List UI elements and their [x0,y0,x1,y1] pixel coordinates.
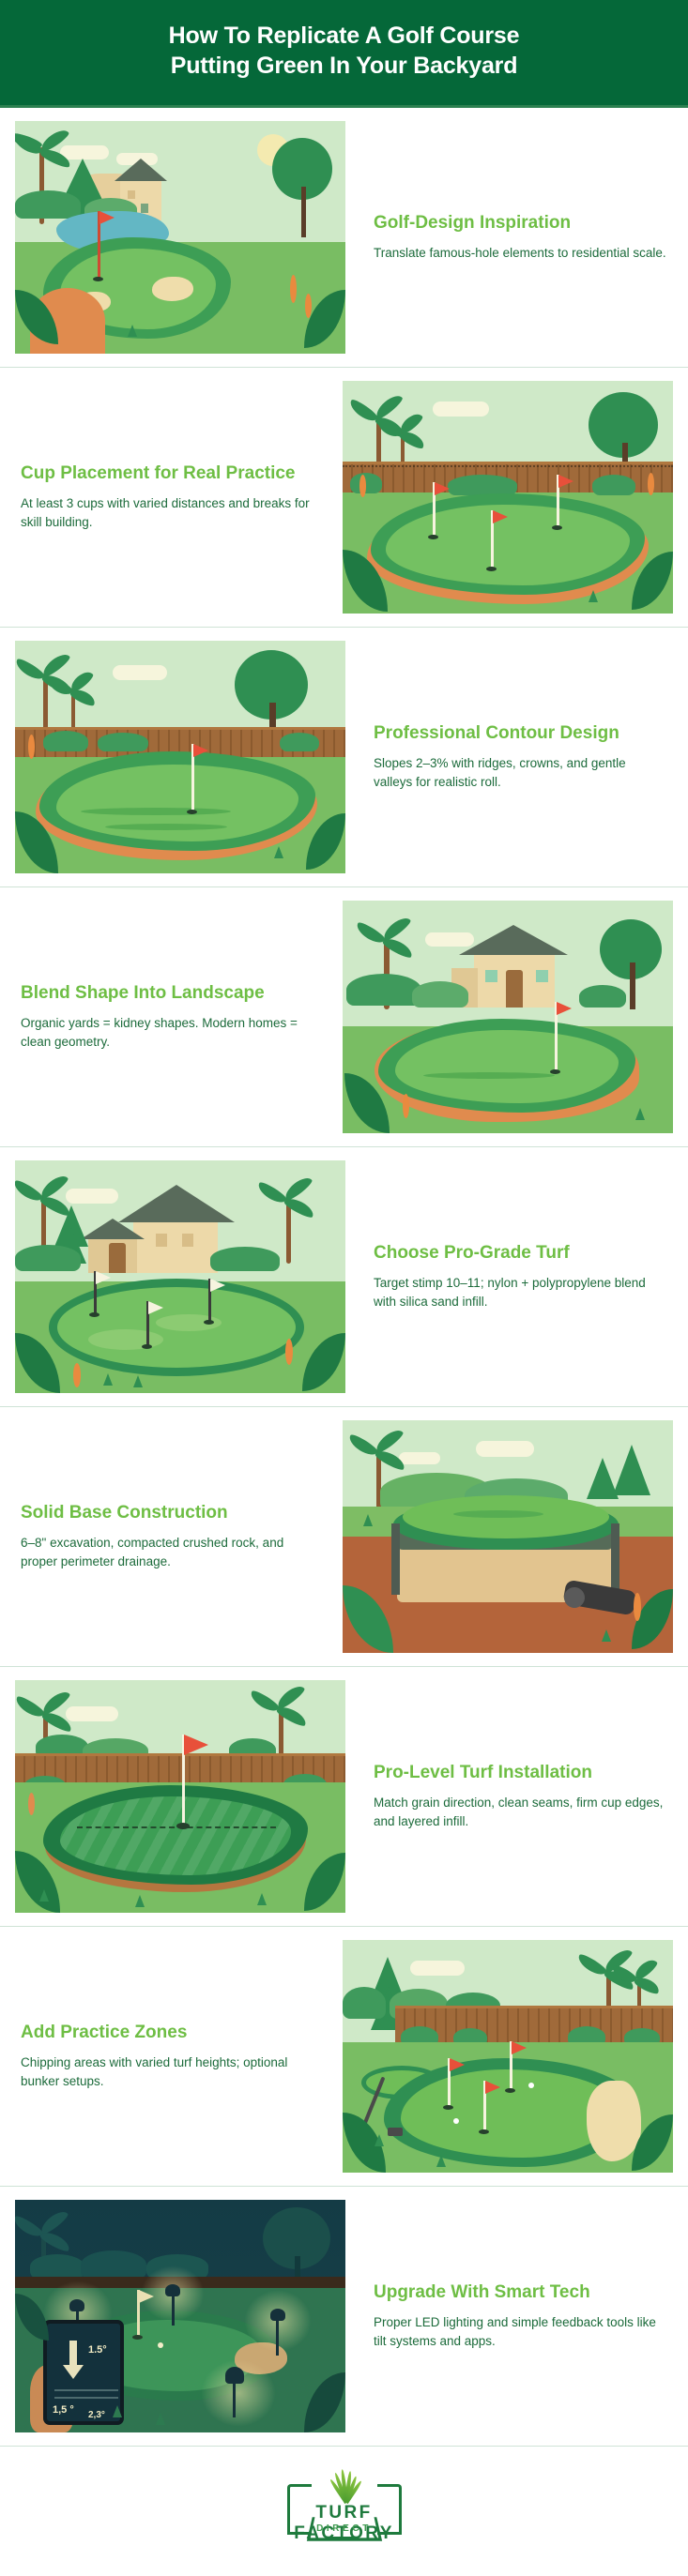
grass-tuft [103,1373,113,1386]
door [506,970,523,1008]
reed [73,1363,81,1387]
flag [485,2081,500,2094]
page-title-line1: How To Replicate A Golf Course [169,23,520,49]
flag [512,2041,527,2054]
house-roof [118,1185,235,1222]
page-header: How To Replicate A Golf Course Putting G… [0,0,688,108]
illustration-wrap [15,1680,345,1913]
flag [493,510,508,523]
section-blend-shape-into-landscape: Blend Shape Into Landscape Organic yards… [0,887,688,1147]
cup [443,2105,453,2110]
house-roof [459,925,568,955]
page-footer: TURF FACTORY DIRECT [0,2447,688,2576]
cloud [66,1189,118,1204]
house-roof [115,159,167,181]
section-text: Upgrade With Smart Tech Proper LED light… [368,2281,673,2351]
bush [98,733,148,751]
cup [486,567,497,571]
cloud [399,1452,440,1464]
illustration-green-base-cross-section-with-drainage-pipe [343,1420,673,1653]
flag [557,1002,572,1015]
golf-ball [528,2083,534,2088]
flag [148,1301,163,1314]
illustration-wrap [343,901,673,1133]
turf-grain-stripes [60,1796,291,1875]
section-body: Slopes 2–3% with ridges, crowns, and gen… [374,754,667,792]
divider [54,2397,118,2399]
bush [81,2250,146,2279]
section-body: Proper LED lighting and simple feedback … [374,2313,667,2351]
tree-trunk [301,187,306,237]
tilt-secondary-left: 1,5 ° [53,2404,74,2416]
grass-tuft [602,1629,611,1642]
lamp-post [233,2380,236,2417]
reed [305,294,312,318]
grass-tuft [257,1893,267,1905]
cup [176,1823,190,1829]
window [536,970,548,982]
window [485,970,497,982]
flag [450,2058,465,2071]
cup [505,2088,515,2093]
palm-fronds [268,1189,306,1207]
cup [479,2129,489,2134]
illustration-wrap [343,1420,673,1653]
bush [448,475,517,495]
illustration-practice-green-with-bunker-club-and-balls [343,1940,673,2173]
section-heading: Cup Placement for Real Practice [21,462,314,484]
section-upgrade-with-smart-tech: 1.5° 1,5 ° 2,3° Upgrade With Smart Tech … [0,2187,688,2447]
section-heading: Solid Base Construction [21,1502,314,1523]
green-contour [88,1329,163,1350]
reed [28,1793,35,1815]
tilt-arrow-icon [63,2365,84,2379]
divider [54,2389,118,2391]
grass-tuft [113,2405,122,2417]
reed [403,1094,409,1118]
illustration-night-green-with-led-lights-and-tablet: 1.5° 1,5 ° 2,3° [15,2200,345,2432]
section-heading: Blend Shape Into Landscape [21,982,314,1004]
palm-fronds [367,929,406,949]
cup [132,2335,143,2340]
grass-tuft [375,2134,384,2146]
illustration-backyard-putting-green-with-three-flags [343,381,673,614]
contour-ridge [81,808,231,815]
bush [350,473,382,493]
section-cup-placement: Cup Placement for Real Practice At least… [0,368,688,628]
section-body: Target stimp 10–11; nylon + polypropylen… [374,1274,667,1311]
section-heading: Golf-Design Inspiration [374,212,667,234]
section-text: Choose Pro-Grade Turf Target stimp 10–11… [368,1242,673,1311]
illustration-kidney-shaped-green-beside-house [343,901,673,1133]
window [141,204,148,213]
golf-ball [453,2118,459,2124]
palm-fronds [26,1703,64,1721]
section-text: Solid Base Construction 6–8" excavation,… [15,1502,320,1571]
tilt-primary-value: 1.5° [88,2344,107,2356]
bush [592,475,635,495]
palm-fronds [24,1187,62,1205]
house-wing-roof [81,1219,145,1239]
section-body: Match grain direction, clean seams, firm… [374,1794,667,1831]
bush [280,733,319,751]
flag [193,744,208,757]
edge-post [611,1523,619,1595]
sand-bunker [587,2081,641,2161]
illustration-green-with-seam-line-and-red-flag [15,1680,345,1913]
section-heading: Choose Pro-Grade Turf [374,1242,667,1264]
lamp-post [276,2320,279,2356]
reed [359,475,366,497]
section-heading: Pro-Level Turf Installation [374,1762,667,1783]
window [128,190,135,199]
section-text: Cup Placement for Real Practice At least… [15,462,320,532]
cloud [66,1706,118,1721]
sand-bunker [152,277,193,301]
pine-tree [587,1458,619,1499]
section-body: Chipping areas with varied turf heights;… [21,2053,314,2091]
reed [28,735,35,759]
contour-ridge [105,824,227,830]
cloud [410,1961,465,1976]
illustration-wrap [343,1940,673,2173]
pine-tree [613,1445,650,1495]
cloud [113,665,167,680]
illustration-contoured-putting-green-with-single-flag [15,641,345,873]
green-surface [395,1030,619,1103]
grass-tuft [39,1889,49,1902]
grass-tuft [135,1895,145,1907]
green-surface [386,505,630,585]
palm-fronds [24,2222,62,2241]
palm-fronds [24,140,62,160]
tilt-secondary-right: 2,3° [88,2410,105,2420]
illustration-wrap [15,641,345,873]
flag [558,475,573,488]
cloud [60,145,109,159]
cup [187,810,197,814]
grass-tuft [436,2155,446,2167]
flag [99,211,115,224]
contour-ridge [423,1072,555,1079]
bush [43,731,88,751]
cup [550,1069,560,1074]
reed [290,275,297,303]
section-text: Pro-Level Turf Installation Match grain … [368,1762,673,1831]
grass-tuft [133,1375,143,1387]
bush [343,1987,386,2019]
illustration-wrap: 1.5° 1,5 ° 2,3° [15,2200,345,2432]
section-body: At least 3 cups with varied distances an… [21,494,314,532]
illustration-wrap [15,1160,345,1393]
green-contour [453,1510,543,1518]
section-golf-design-inspiration: Golf-Design Inspiration Translate famous… [0,108,688,368]
section-text: Blend Shape Into Landscape Organic yards… [15,982,320,1052]
grass-blades-icon [312,2471,377,2503]
section-text: Professional Contour Design Slopes 2–3% … [368,722,673,792]
infographic-page: How To Replicate A Golf Course Putting G… [0,0,688,2576]
section-heading: Professional Contour Design [374,722,667,744]
logo-dash [331,2537,358,2539]
grass-tuft [156,2413,165,2425]
logo-subtitle: DIRECT [265,2523,424,2534]
section-heading: Add Practice Zones [21,2022,314,2043]
window [156,1234,167,1247]
bush [30,2254,84,2279]
page-title-line2: Putting Green In Your Backyard [171,53,518,79]
grass-tuft [128,325,137,337]
section-text: Add Practice Zones Chipping areas with v… [15,2022,320,2091]
cup [204,1320,214,1325]
reed [634,1593,641,1621]
palm-fronds [261,1697,298,1716]
golf-ball [158,2342,163,2348]
cup [93,277,103,281]
door [109,1243,126,1273]
palm-fronds [620,1968,654,1985]
cup [552,525,562,530]
grass-tuft [635,1108,645,1120]
cloud [433,402,489,417]
section-add-practice-zones: Add Practice Zones Chipping areas with v… [0,1927,688,2187]
bush [210,1247,280,1271]
cloud [476,1441,534,1457]
grass-tuft [274,846,283,858]
golf-club-head [388,2128,403,2136]
illustration-oval-green-with-three-white-flags-and-house [15,1160,345,1393]
illustration-wrap [343,381,673,614]
page-title: How To Replicate A Golf Course Putting G… [56,21,632,81]
illustration-golf-course-with-pond-bridge-and-house [15,121,345,354]
flag [184,1735,208,1755]
cup [142,1344,152,1349]
bush [412,981,468,1008]
edge-post [391,1523,400,1595]
flag [96,1271,111,1284]
bush [15,1245,81,1271]
cup [428,535,438,539]
reed [648,473,654,495]
illustration-wrap [15,121,345,354]
palm-fronds [386,422,420,439]
bush [15,190,81,219]
tree-trunk [630,962,635,1009]
flag [210,1279,225,1292]
reed [285,1339,293,1365]
section-body: Organic yards = kidney shapes. Modern ho… [21,1014,314,1052]
section-choose-pro-grade-turf: Choose Pro-Grade Turf Target stimp 10–11… [0,1147,688,1407]
cup [89,1312,99,1317]
section-pro-level-turf-installation: Pro-Level Turf Installation Match grain … [0,1667,688,1927]
section-body: Translate famous-hole elements to reside… [374,244,667,263]
section-solid-base-construction: Solid Base Construction 6–8" excavation,… [0,1407,688,1667]
section-professional-contour-design: Professional Contour Design Slopes 2–3% … [0,628,688,887]
palm-fronds [56,680,90,697]
string-lights [343,465,673,475]
turf-factory-direct-logo: TURF FACTORY DIRECT [265,2471,424,2548]
section-heading: Upgrade With Smart Tech [374,2281,667,2303]
palm-fronds [359,1441,397,1460]
lamp-post [172,2296,175,2326]
bush [346,974,421,1006]
bush [579,985,626,1008]
section-text: Golf-Design Inspiration Translate famous… [368,212,673,263]
flag [435,482,450,495]
grass-tuft [363,1514,373,1526]
window [182,1234,193,1247]
grass-tuft [589,590,598,602]
house [133,1222,218,1273]
section-body: 6–8" excavation, compacted crushed rock,… [21,1534,314,1571]
